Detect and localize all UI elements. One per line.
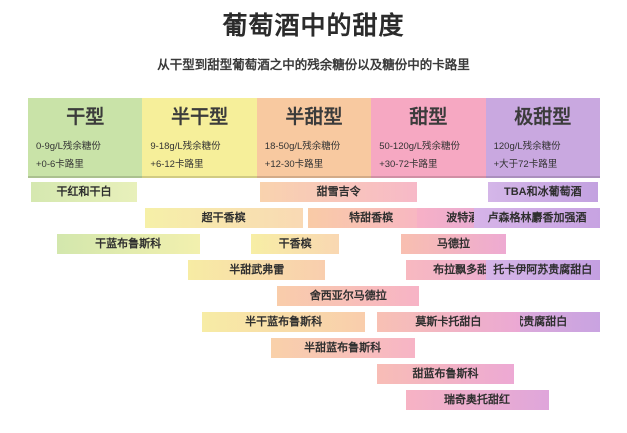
bar-item: 甜蓝布鲁斯科 (377, 364, 514, 384)
bar-item: 超干香槟 (145, 208, 303, 228)
category-rule-4 (371, 176, 485, 178)
category-sugar: 18-50g/L残余糖份 (265, 138, 341, 152)
category-sugar: 9-18g/L残余糖份 (150, 138, 220, 152)
category-name: 半干型 (142, 102, 256, 129)
category-sugar: 120g/L残余糖份 (494, 138, 561, 152)
bar-item: 干蓝布鲁斯科 (57, 234, 200, 254)
bar-item: 半甜武弗雷 (188, 260, 325, 280)
category-name: 极甜型 (486, 102, 600, 129)
sweetness-chart: 干型0-9g/L残余糖份+0-6卡路里半干型9-18g/L残余糖份+6-12卡路… (28, 98, 600, 423)
bar-item: 半甜蓝布鲁斯科 (271, 338, 415, 358)
bar-item: TBA和冰葡萄酒 (488, 182, 598, 202)
category-sugar: 0-9g/L残余糖份 (36, 138, 101, 152)
category-column-4: 甜型50-120g/L残余糖份+30-72卡路里 (371, 98, 485, 178)
category-calories: +大于72卡路里 (494, 156, 558, 170)
category-column-1: 干型0-9g/L残余糖份+0-6卡路里 (28, 98, 142, 178)
bar-item: 半干蓝布鲁斯科 (202, 312, 366, 332)
bar-item: 马德拉 (401, 234, 506, 254)
category-rule-3 (257, 176, 371, 178)
bar-item: 特甜香槟 (308, 208, 434, 228)
category-rule-2 (142, 176, 256, 178)
bars-area: 干红和干白甜雪吉令TBA和冰葡萄酒超干香槟特甜香槟波特酒卢森格林麝香加强酒干蓝布… (28, 182, 600, 423)
bar-item: 托卡伊阿苏贵腐甜白 (486, 260, 600, 280)
bar-item: 莫斯卡托甜白 (377, 312, 520, 332)
category-rule-5 (486, 176, 600, 178)
category-calories: +30-72卡路里 (379, 156, 437, 170)
category-column-5: 极甜型120g/L残余糖份+大于72卡路里 (486, 98, 600, 178)
category-rule-1 (28, 176, 142, 178)
category-column-2: 半干型9-18g/L残余糖份+6-12卡路里 (142, 98, 256, 178)
bar-item: 瑞奇奥托甜红 (406, 390, 549, 410)
bar-item: 卢森格林麝香加强酒 (474, 208, 600, 228)
category-calories: +12-30卡路里 (265, 156, 323, 170)
bar-item: 干香槟 (251, 234, 339, 254)
bar-item: 甜雪吉令 (260, 182, 417, 202)
category-calories: +0-6卡路里 (36, 156, 84, 170)
category-header-row: 干型0-9g/L残余糖份+0-6卡路里半干型9-18g/L残余糖份+6-12卡路… (28, 98, 600, 178)
bar-item: 舍西亚尔马德拉 (277, 286, 419, 306)
category-name: 甜型 (371, 102, 485, 129)
category-calories: +6-12卡路里 (150, 156, 203, 170)
category-sugar: 50-120g/L残余糖份 (379, 138, 460, 152)
bar-item: 干红和干白 (31, 182, 136, 202)
category-column-3: 半甜型18-50g/L残余糖份+12-30卡路里 (257, 98, 371, 178)
category-name: 半甜型 (257, 102, 371, 129)
page-subtitle: 从干型到甜型葡萄酒之中的残余糖份以及糖份中的卡路里 (0, 54, 627, 73)
category-name: 干型 (28, 102, 142, 129)
page-title: 葡萄酒中的甜度 (0, 6, 627, 42)
header-rule (28, 176, 600, 178)
